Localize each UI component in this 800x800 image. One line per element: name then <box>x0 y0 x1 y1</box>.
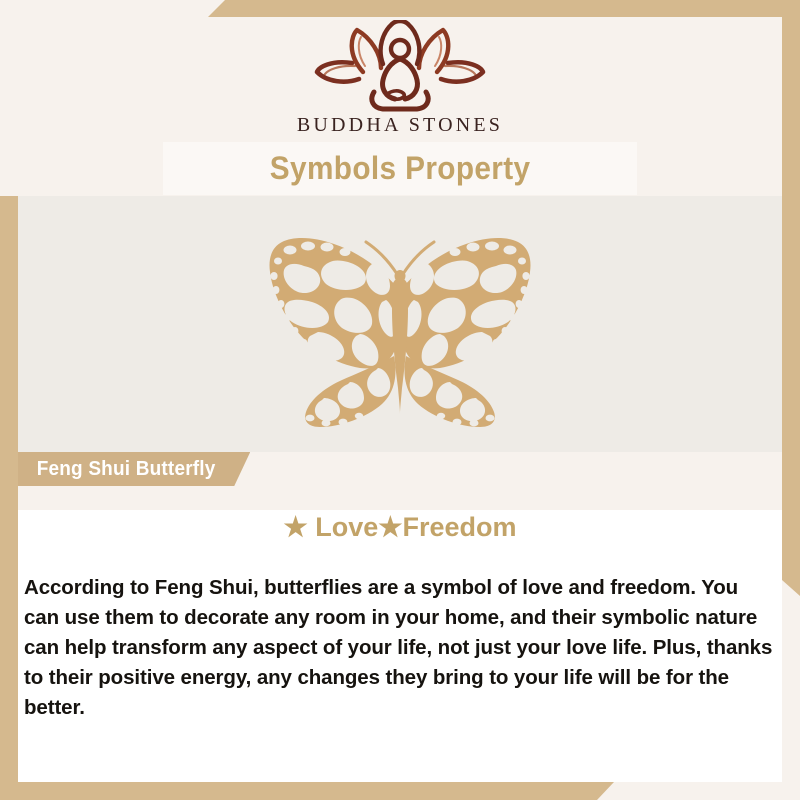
tab-label: Feng Shui Butterfly <box>37 458 216 481</box>
brand-wordmark: BUDDHA STONES <box>0 114 800 137</box>
butterfly-illustration <box>0 228 800 428</box>
page-root: BUDDHA STONES Symbols Property <box>0 0 800 800</box>
decorative-band-top <box>208 0 800 17</box>
brand-logo: BUDDHA STONES <box>0 20 800 137</box>
love-freedom-heading: ★ Love★Freedom <box>0 512 800 543</box>
lotus-meditation-figure-icon <box>311 20 489 112</box>
decorative-band-bottom <box>0 782 614 800</box>
feng-shui-butterfly-tab[interactable]: Feng Shui Butterfly <box>18 452 250 486</box>
page-title: Symbols Property <box>270 150 531 187</box>
title-banner: Symbols Property <box>163 142 637 195</box>
description-text: According to Feng Shui, butterflies are … <box>24 573 778 723</box>
butterfly-icon <box>230 228 570 428</box>
